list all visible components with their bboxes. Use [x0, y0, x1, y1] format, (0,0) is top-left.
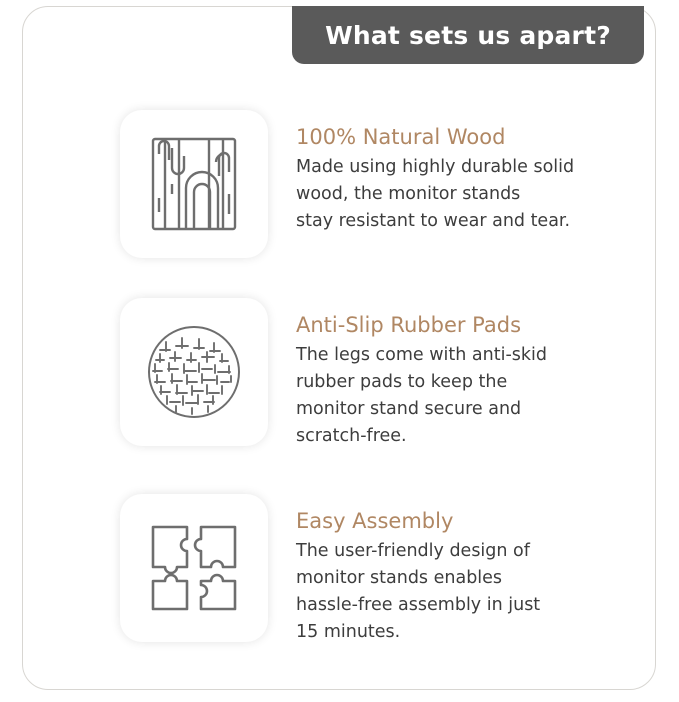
- wood-grain-panel-icon: [148, 136, 240, 232]
- feature-icon-tile: [120, 494, 268, 642]
- feature-text-block: 100% Natural Wood Made using highly dura…: [296, 110, 626, 235]
- feature-list: 100% Natural Wood Made using highly dura…: [0, 0, 679, 702]
- feature-icon-tile: [120, 298, 268, 446]
- list-item: Anti-Slip Rubber Pads The legs come with…: [120, 298, 626, 450]
- feature-text-block: Anti-Slip Rubber Pads The legs come with…: [296, 298, 626, 450]
- feature-description: Made using highly durable solid wood, th…: [296, 154, 626, 235]
- feature-title: Anti-Slip Rubber Pads: [296, 312, 626, 338]
- feature-text-block: Easy Assembly The user-friendly design o…: [296, 494, 626, 646]
- feature-title: 100% Natural Wood: [296, 124, 626, 150]
- feature-description: The legs come with anti-skid rubber pads…: [296, 342, 626, 450]
- feature-icon-tile: [120, 110, 268, 258]
- jigsaw-puzzle-pieces-icon: [148, 522, 240, 614]
- list-item: 100% Natural Wood Made using highly dura…: [120, 110, 626, 258]
- feature-title: Easy Assembly: [296, 508, 626, 534]
- list-item: Easy Assembly The user-friendly design o…: [120, 494, 626, 646]
- feature-description: The user-friendly design of monitor stan…: [296, 538, 626, 646]
- anti-slip-rubber-pad-circle-icon: [146, 324, 242, 420]
